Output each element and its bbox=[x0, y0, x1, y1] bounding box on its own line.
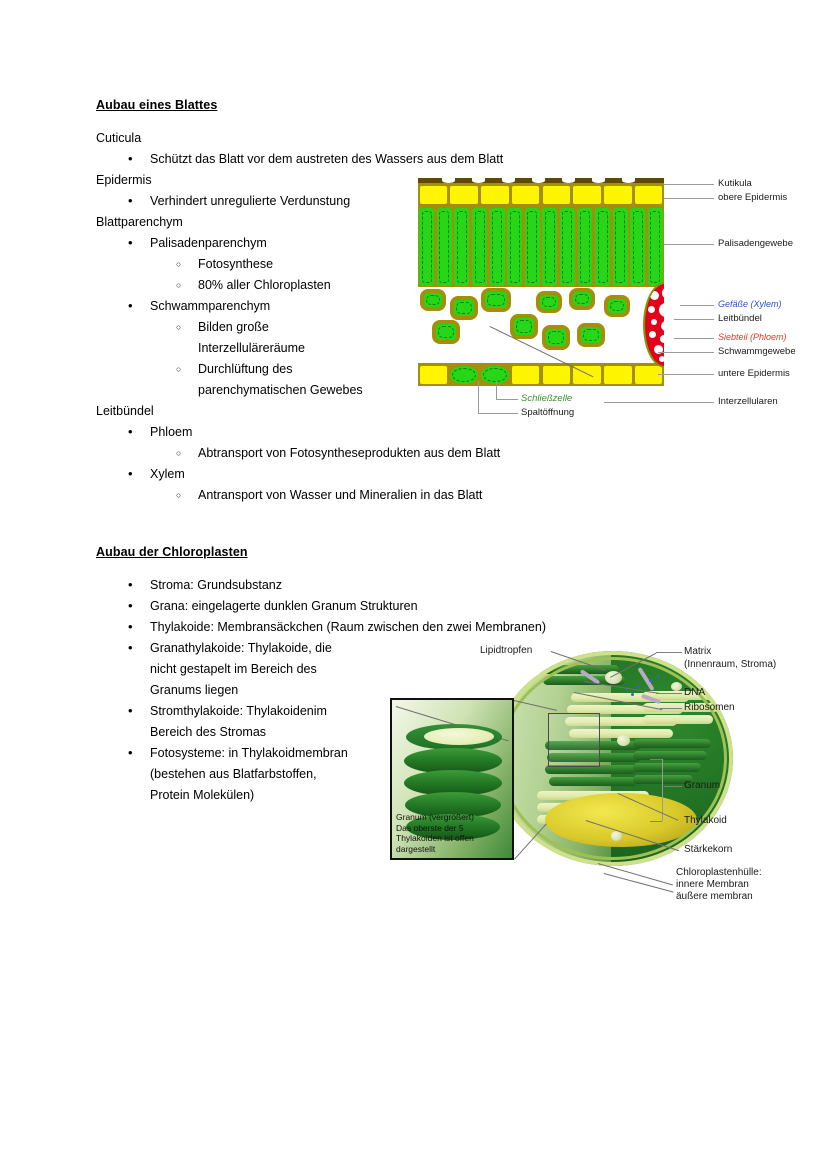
label-matrix-line2: (Innenraum, Stroma) bbox=[684, 659, 776, 671]
palisade-cell bbox=[578, 208, 593, 286]
label-spongy: Schwammgewebe bbox=[718, 346, 796, 357]
leader-bracket-granum-bottom bbox=[650, 821, 662, 822]
spongy-cell bbox=[604, 295, 630, 317]
leader-line-cuticle bbox=[664, 184, 714, 185]
label-guard-cell: Schließzelle bbox=[521, 393, 572, 404]
epidermis-cell bbox=[420, 186, 448, 204]
list-item-text: Antransport von Wasser und Mineralien in… bbox=[198, 488, 482, 502]
term-cuticula: Cuticula bbox=[96, 128, 576, 149]
guard-cell bbox=[481, 366, 509, 384]
spongy-cell bbox=[510, 314, 538, 339]
section-heading-blatt: Aubau eines Blattes bbox=[96, 98, 576, 112]
list-item-text: Schwammparenchym bbox=[150, 299, 270, 313]
document-page: Aubau eines Blattes Cuticula Schützt das… bbox=[0, 0, 828, 1171]
label-upper-epidermis: obere Epidermis bbox=[718, 192, 787, 203]
leader-line-guard-cell-h bbox=[496, 399, 518, 400]
list-item-text: Xylem bbox=[150, 467, 185, 481]
leader-bracket-granum-top bbox=[650, 759, 662, 760]
palisade-cell bbox=[525, 208, 540, 286]
spongy-cell bbox=[450, 296, 478, 320]
palisade-cell bbox=[454, 208, 469, 286]
epidermis-cell bbox=[635, 186, 663, 204]
list-item-text: 80% aller Chloroplasten bbox=[198, 278, 331, 292]
palisade-cell bbox=[490, 208, 505, 286]
leader-line-phloem bbox=[674, 338, 714, 339]
leader-line-dna bbox=[656, 693, 682, 694]
epidermis-cell bbox=[573, 186, 601, 204]
label-palisade: Palisadengewebe bbox=[718, 238, 793, 249]
epidermis-cell bbox=[450, 186, 478, 204]
list-item: Phloem bbox=[96, 422, 576, 443]
palisade-cell bbox=[437, 208, 452, 286]
leader-line-lower-epidermis bbox=[658, 374, 714, 375]
label-intercellular: Interzellularen bbox=[718, 396, 778, 407]
list-item-text: Verhindert unregulierte Verdunstung bbox=[150, 194, 350, 208]
leader-line-stoma bbox=[478, 381, 479, 413]
palisade-cell bbox=[630, 208, 645, 286]
leader-line-spongy bbox=[658, 352, 714, 353]
caption-line-3: Thylakoiden ist offen bbox=[396, 833, 512, 844]
list-item-text: Fotosynthese bbox=[198, 257, 273, 271]
list-item: Abtransport von Fotosyntheseprodukten au… bbox=[96, 443, 576, 464]
epidermis-cell bbox=[604, 366, 632, 384]
caption-line-4: dargestellt bbox=[396, 844, 512, 855]
palisade-cell bbox=[648, 208, 663, 286]
list-item: Antransport von Wasser und Mineralien in… bbox=[96, 485, 576, 506]
list-item-text: Granathylakoide: Thylakoide, die bbox=[150, 641, 332, 655]
palisade-tissue-layer bbox=[418, 206, 664, 287]
epidermis-cell bbox=[604, 186, 632, 204]
list-item-text: Bilden große bbox=[198, 320, 269, 334]
guard-cell bbox=[450, 366, 478, 384]
label-lower-epidermis: untere Epidermis bbox=[718, 368, 790, 379]
granum-open-thylakoid bbox=[406, 724, 502, 750]
spongy-cell bbox=[536, 291, 562, 313]
label-envelope-line1: Chloroplastenhülle: bbox=[676, 867, 762, 879]
list-item: Grana: eingelagerte dunklen Granum Struk… bbox=[96, 596, 576, 617]
leader-line-bundle bbox=[674, 319, 714, 320]
list-item-text: Palisadenparenchym bbox=[150, 236, 267, 250]
spongy-cell bbox=[432, 320, 460, 344]
list-item-text: Thylakoide: Membransäckchen (Raum zwisch… bbox=[150, 620, 546, 634]
list-item-text: Abtransport von Fotosyntheseprodukten au… bbox=[198, 446, 500, 460]
chloroplast-figure: Granum (vergrößert) Das oberste der 5 Th… bbox=[388, 645, 826, 907]
spongy-cell bbox=[569, 288, 595, 310]
leader-line-intercellular bbox=[604, 402, 714, 403]
list-item-text: Stromthylakoide: Thylakoidenim bbox=[150, 704, 327, 718]
spongy-cell bbox=[420, 289, 446, 311]
palisade-cell bbox=[507, 208, 522, 286]
list-item: Schützt das Blatt vor dem austreten des … bbox=[96, 149, 576, 170]
lower-epidermis-layer bbox=[418, 363, 664, 386]
palisade-cell bbox=[613, 208, 628, 286]
granum-inset-box: Granum (vergrößert) Das oberste der 5 Th… bbox=[390, 698, 514, 860]
label-matrix-line1: Matrix bbox=[684, 646, 711, 658]
leader-line-ribosomes bbox=[660, 708, 682, 709]
label-bundle: Leitbündel bbox=[718, 313, 762, 324]
palisade-cell bbox=[419, 208, 434, 286]
list-item-text: Durchlüftung des bbox=[198, 362, 293, 376]
epidermis-cell bbox=[481, 186, 509, 204]
epidermis-cell bbox=[543, 366, 571, 384]
section-heading-chloroplasten: Aubau der Chloroplasten bbox=[96, 545, 576, 559]
list-item-text: Fotosysteme: in Thylakoidmembran bbox=[150, 746, 348, 760]
label-ribosomes: Ribosomen bbox=[684, 702, 735, 714]
label-xylem: Gefäße (Xylem) bbox=[718, 299, 782, 310]
label-granum: Granum bbox=[684, 780, 720, 792]
caption-line-1: Granum (vergrößert) bbox=[396, 812, 512, 823]
leader-line-upper-epidermis bbox=[664, 198, 714, 199]
label-phloem: Siebteil (Phloem) bbox=[718, 332, 787, 343]
leaf-cross-section-illustration bbox=[418, 178, 664, 386]
leader-line-guard-cell bbox=[496, 381, 497, 399]
spongy-cell bbox=[481, 288, 511, 312]
list-item: Thylakoide: Membransäckchen (Raum zwisch… bbox=[96, 617, 576, 638]
leader-line-stoma-h bbox=[478, 413, 518, 414]
epidermis-cell bbox=[512, 186, 540, 204]
caption-line-2: Das oberste der 5 bbox=[396, 823, 512, 834]
label-cuticle: Kutikula bbox=[718, 178, 752, 189]
palisade-cell bbox=[560, 208, 575, 286]
list-item-text: Phloem bbox=[150, 425, 192, 439]
palisade-cell bbox=[542, 208, 557, 286]
list-item: Xylem bbox=[96, 464, 576, 485]
spongy-cell bbox=[542, 325, 570, 350]
upper-epidermis-layer bbox=[418, 183, 664, 206]
palisade-cell bbox=[595, 208, 610, 286]
label-thylakoid: Thylakoid bbox=[684, 815, 727, 827]
label-starch-grain: Stärkekorn bbox=[684, 844, 732, 856]
label-stoma: Spaltöffnung bbox=[521, 407, 574, 418]
list-item: Stroma: Grundsubstanz bbox=[96, 575, 576, 596]
epidermis-cell bbox=[512, 366, 540, 384]
label-dna: DNA bbox=[684, 687, 705, 699]
leaf-cross-section-figure: Kutikula obere Epidermis Palisadengewebe… bbox=[418, 178, 818, 418]
label-envelope-line2: innere Membran bbox=[676, 879, 749, 891]
palisade-cell bbox=[472, 208, 487, 286]
epidermis-cell bbox=[420, 366, 448, 384]
label-envelope-line3: äußere membran bbox=[676, 891, 753, 903]
leader-line-palisade bbox=[664, 244, 714, 245]
leader-line-xylem bbox=[680, 305, 714, 306]
leader-line-granum bbox=[664, 786, 682, 787]
leader-line-matrix bbox=[656, 652, 682, 653]
list-item-text: Schützt das Blatt vor dem austreten des … bbox=[150, 152, 503, 166]
list-item-text: Stroma: Grundsubstanz bbox=[150, 578, 282, 592]
epidermis-cell bbox=[543, 186, 571, 204]
spongy-cell bbox=[577, 323, 605, 347]
list-item-text: Grana: eingelagerte dunklen Granum Struk… bbox=[150, 599, 418, 613]
label-lipid-droplet: Lipidtropfen bbox=[480, 645, 532, 657]
granum-inset-caption: Granum (vergrößert) Das oberste der 5 Th… bbox=[396, 812, 512, 854]
